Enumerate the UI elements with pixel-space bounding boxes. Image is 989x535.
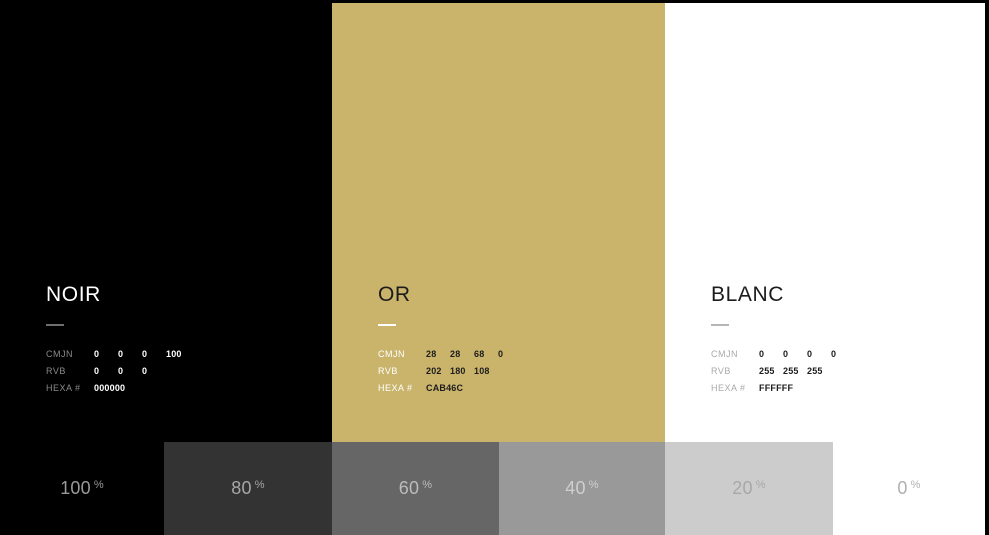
spec-value: 68 <box>474 349 498 359</box>
color-panel-or: OR CMJN 28 28 68 0 RVB 202 180 <box>332 0 665 442</box>
spec-values-cmjn: 28 28 68 0 <box>426 349 522 359</box>
divider-dash-or <box>378 324 396 326</box>
spec-value: 0 <box>498 349 522 359</box>
tint-value: 40 <box>565 478 585 499</box>
color-title-or: OR <box>378 284 648 305</box>
percent-sign: % <box>911 479 921 491</box>
spec-values-rvb: 202 180 108 <box>426 366 498 376</box>
spec-value: 0 <box>118 366 142 376</box>
tint-label-0: 0% <box>833 442 985 535</box>
spec-row-cmjn: CMJN 28 28 68 0 <box>378 349 648 366</box>
spec-row-hexa: HEXA # CAB46C <box>378 383 648 400</box>
tint-value: 80 <box>231 478 251 499</box>
divider-dash-blanc <box>711 324 729 326</box>
spec-value: 100 <box>166 349 190 359</box>
spec-list-noir: CMJN 0 0 0 100 RVB 0 0 0 <box>46 349 316 400</box>
tint-swatch-0: 0% <box>833 442 985 535</box>
spec-row-rvb: RVB 255 255 255 <box>711 366 981 383</box>
spec-value: 0 <box>94 366 118 376</box>
tint-swatch-100: 100% <box>0 442 164 535</box>
tint-label-80: 80% <box>164 442 332 535</box>
tint-label-40: 40% <box>499 442 665 535</box>
spec-value: 28 <box>450 349 474 359</box>
spec-label-hexa: HEXA # <box>711 383 759 393</box>
divider-dash-noir <box>46 324 64 326</box>
spec-label-hexa: HEXA # <box>378 383 426 393</box>
color-palette-board: NOIR CMJN 0 0 0 100 RVB 0 0 <box>0 0 989 535</box>
spec-value: 255 <box>783 366 807 376</box>
percent-sign: % <box>422 479 432 491</box>
spec-row-rvb: RVB 202 180 108 <box>378 366 648 383</box>
percent-sign: % <box>94 479 104 491</box>
spec-list-blanc: CMJN 0 0 0 0 RVB 255 255 255 <box>711 349 981 400</box>
spec-values-hexa: CAB46C <box>426 383 463 393</box>
spec-value-hex: 000000 <box>94 383 125 393</box>
spec-value: 0 <box>142 349 166 359</box>
spec-value: 202 <box>426 366 450 376</box>
spec-value: 0 <box>118 349 142 359</box>
tint-swatch-80: 80% <box>164 442 332 535</box>
tint-label-60: 60% <box>332 442 499 535</box>
color-title-noir: NOIR <box>46 284 316 305</box>
spec-values-cmjn: 0 0 0 0 <box>759 349 855 359</box>
tint-swatch-60: 60% <box>332 442 499 535</box>
spec-value: 255 <box>759 366 783 376</box>
spec-value: 0 <box>94 349 118 359</box>
color-info-or: OR CMJN 28 28 68 0 RVB 202 180 <box>378 284 648 400</box>
tint-value: 0 <box>897 478 907 499</box>
percent-sign: % <box>589 479 599 491</box>
color-title-blanc: BLANC <box>711 284 981 305</box>
spec-value: 28 <box>426 349 450 359</box>
percent-sign: % <box>756 479 766 491</box>
tint-swatch-20: 20% <box>665 442 833 535</box>
percent-sign: % <box>255 479 265 491</box>
spec-list-or: CMJN 28 28 68 0 RVB 202 180 108 <box>378 349 648 400</box>
spec-values-hexa: FFFFFF <box>759 383 793 393</box>
spec-values-cmjn: 0 0 0 100 <box>94 349 190 359</box>
tint-value: 20 <box>732 478 752 499</box>
color-info-noir: NOIR CMJN 0 0 0 100 RVB 0 0 <box>46 284 316 400</box>
spec-label-cmjn: CMJN <box>46 349 94 359</box>
spec-row-hexa: HEXA # FFFFFF <box>711 383 981 400</box>
tint-scale-strip: 100% 80% 60% 40% 20% 0% <box>0 442 985 535</box>
spec-value: 0 <box>831 349 855 359</box>
spec-value: 108 <box>474 366 498 376</box>
spec-value-hex: FFFFFF <box>759 383 793 393</box>
spec-value: 255 <box>807 366 831 376</box>
spec-row-cmjn: CMJN 0 0 0 0 <box>711 349 981 366</box>
tint-label-20: 20% <box>665 442 833 535</box>
spec-value: 0 <box>807 349 831 359</box>
spec-label-rvb: RVB <box>46 366 94 376</box>
tint-value: 60 <box>399 478 419 499</box>
tint-swatch-40: 40% <box>499 442 665 535</box>
spec-row-hexa: HEXA # 000000 <box>46 383 316 400</box>
spec-value: 0 <box>783 349 807 359</box>
color-panel-blanc: BLANC CMJN 0 0 0 0 RVB 255 255 <box>665 0 985 442</box>
spec-value: 0 <box>142 366 166 376</box>
spec-values-hexa: 000000 <box>94 383 125 393</box>
spec-values-rvb: 0 0 0 <box>94 366 166 376</box>
spec-row-rvb: RVB 0 0 0 <box>46 366 316 383</box>
spec-label-hexa: HEXA # <box>46 383 94 393</box>
spec-value: 180 <box>450 366 474 376</box>
color-info-blanc: BLANC CMJN 0 0 0 0 RVB 255 255 <box>711 284 981 400</box>
top-divider-rule <box>332 0 985 3</box>
spec-label-rvb: RVB <box>378 366 426 376</box>
spec-values-rvb: 255 255 255 <box>759 366 831 376</box>
color-panel-noir: NOIR CMJN 0 0 0 100 RVB 0 0 <box>0 0 332 442</box>
frame-edge-right <box>985 0 989 535</box>
spec-value: 0 <box>759 349 783 359</box>
spec-row-cmjn: CMJN 0 0 0 100 <box>46 349 316 366</box>
spec-value-hex: CAB46C <box>426 383 463 393</box>
tint-label-100: 100% <box>0 442 164 535</box>
spec-label-cmjn: CMJN <box>711 349 759 359</box>
tint-value: 100 <box>60 478 91 499</box>
spec-label-cmjn: CMJN <box>378 349 426 359</box>
spec-label-rvb: RVB <box>711 366 759 376</box>
